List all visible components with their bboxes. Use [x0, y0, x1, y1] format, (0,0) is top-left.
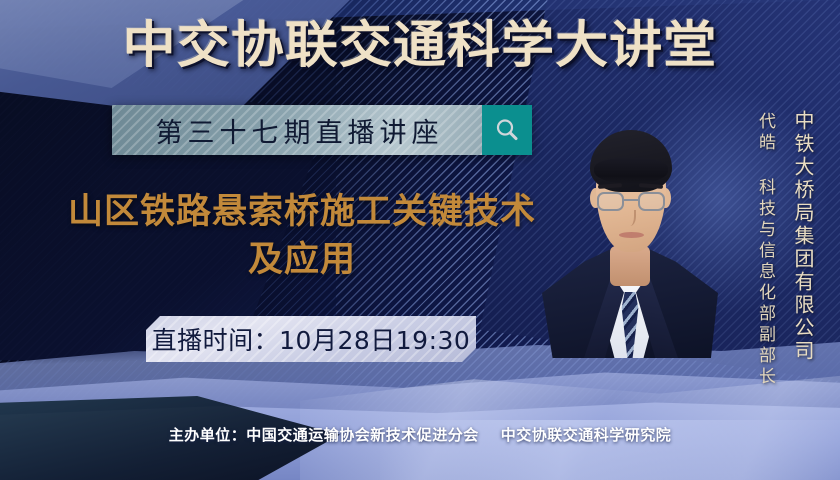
portrait-mouth	[619, 232, 644, 238]
portrait-hair	[590, 130, 672, 192]
lecture-title: 山区铁路悬索桥施工关键技术 及应用	[42, 188, 562, 284]
portrait-glasses-left	[597, 192, 624, 211]
search-icon	[493, 116, 521, 144]
footer-org-1: 中国交通运输协会新技术促进分会	[246, 426, 479, 444]
broadcast-time-text: 直播时间：10月28日19:30	[152, 321, 471, 357]
search-button[interactable]	[482, 105, 532, 155]
speaker-name-title: 代皓 科技与信息化部副部长	[753, 112, 778, 388]
portrait-neck	[610, 246, 650, 286]
speaker-company: 中铁大桥局集团有限公司	[789, 110, 818, 363]
portrait-glasses-right	[638, 192, 665, 211]
portrait-glasses-bridge	[624, 199, 638, 201]
lecture-title-line2: 及应用	[42, 236, 562, 284]
page-title: 中交协联交通科学大讲堂	[0, 14, 840, 76]
lecture-title-line1: 山区铁路悬索桥施工关键技术	[68, 192, 536, 232]
footer-organizers: 主办单位：中国交通运输协会新技术促进分会中交协联交通科学研究院	[0, 424, 840, 445]
episode-bar[interactable]: 第三十七期直播讲座	[112, 105, 532, 155]
broadcast-time-badge: 直播时间：10月28日19:30	[146, 316, 476, 362]
speaker-portrait	[540, 96, 720, 358]
episode-label: 第三十七期直播讲座	[151, 111, 444, 150]
footer-org-2: 中交协联交通科学研究院	[501, 426, 672, 444]
footer-prefix: 主办单位：	[169, 426, 247, 444]
episode-bar-body: 第三十七期直播讲座	[112, 105, 482, 155]
poster-root: 中交协联交通科学大讲堂 第三十七期直播讲座 山区铁路悬索桥施工关键技术 及应用 …	[0, 0, 840, 480]
